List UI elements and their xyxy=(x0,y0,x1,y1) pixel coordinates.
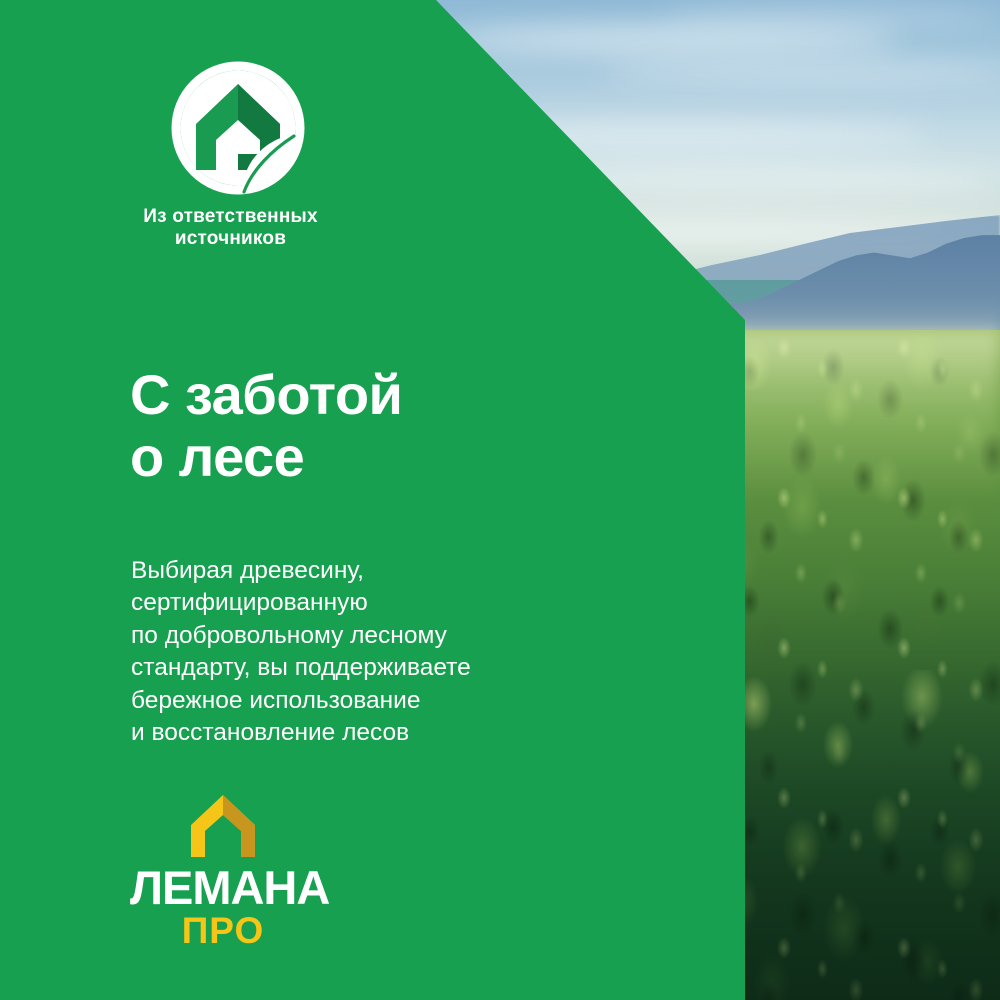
responsible-sources-house-leaf-icon xyxy=(168,58,308,198)
responsible-sources-badge: Из ответственных источников xyxy=(128,58,348,251)
brand-name: ЛЕМАНА xyxy=(130,865,316,910)
brand-lockup: ЛЕМАНА ПРО xyxy=(130,793,316,949)
body-text: Выбирая древесину, сертифицированную по … xyxy=(131,555,471,750)
lemana-house-icon xyxy=(189,793,257,859)
responsible-sources-caption: Из ответственных источников xyxy=(128,206,333,251)
brand-subtitle: ПРО xyxy=(130,912,316,949)
poster-content: Из ответственных источников С заботой о … xyxy=(0,0,1000,1000)
poster: Из ответственных источников С заботой о … xyxy=(0,0,1000,1000)
page-title: С заботой о лесе xyxy=(130,364,402,489)
